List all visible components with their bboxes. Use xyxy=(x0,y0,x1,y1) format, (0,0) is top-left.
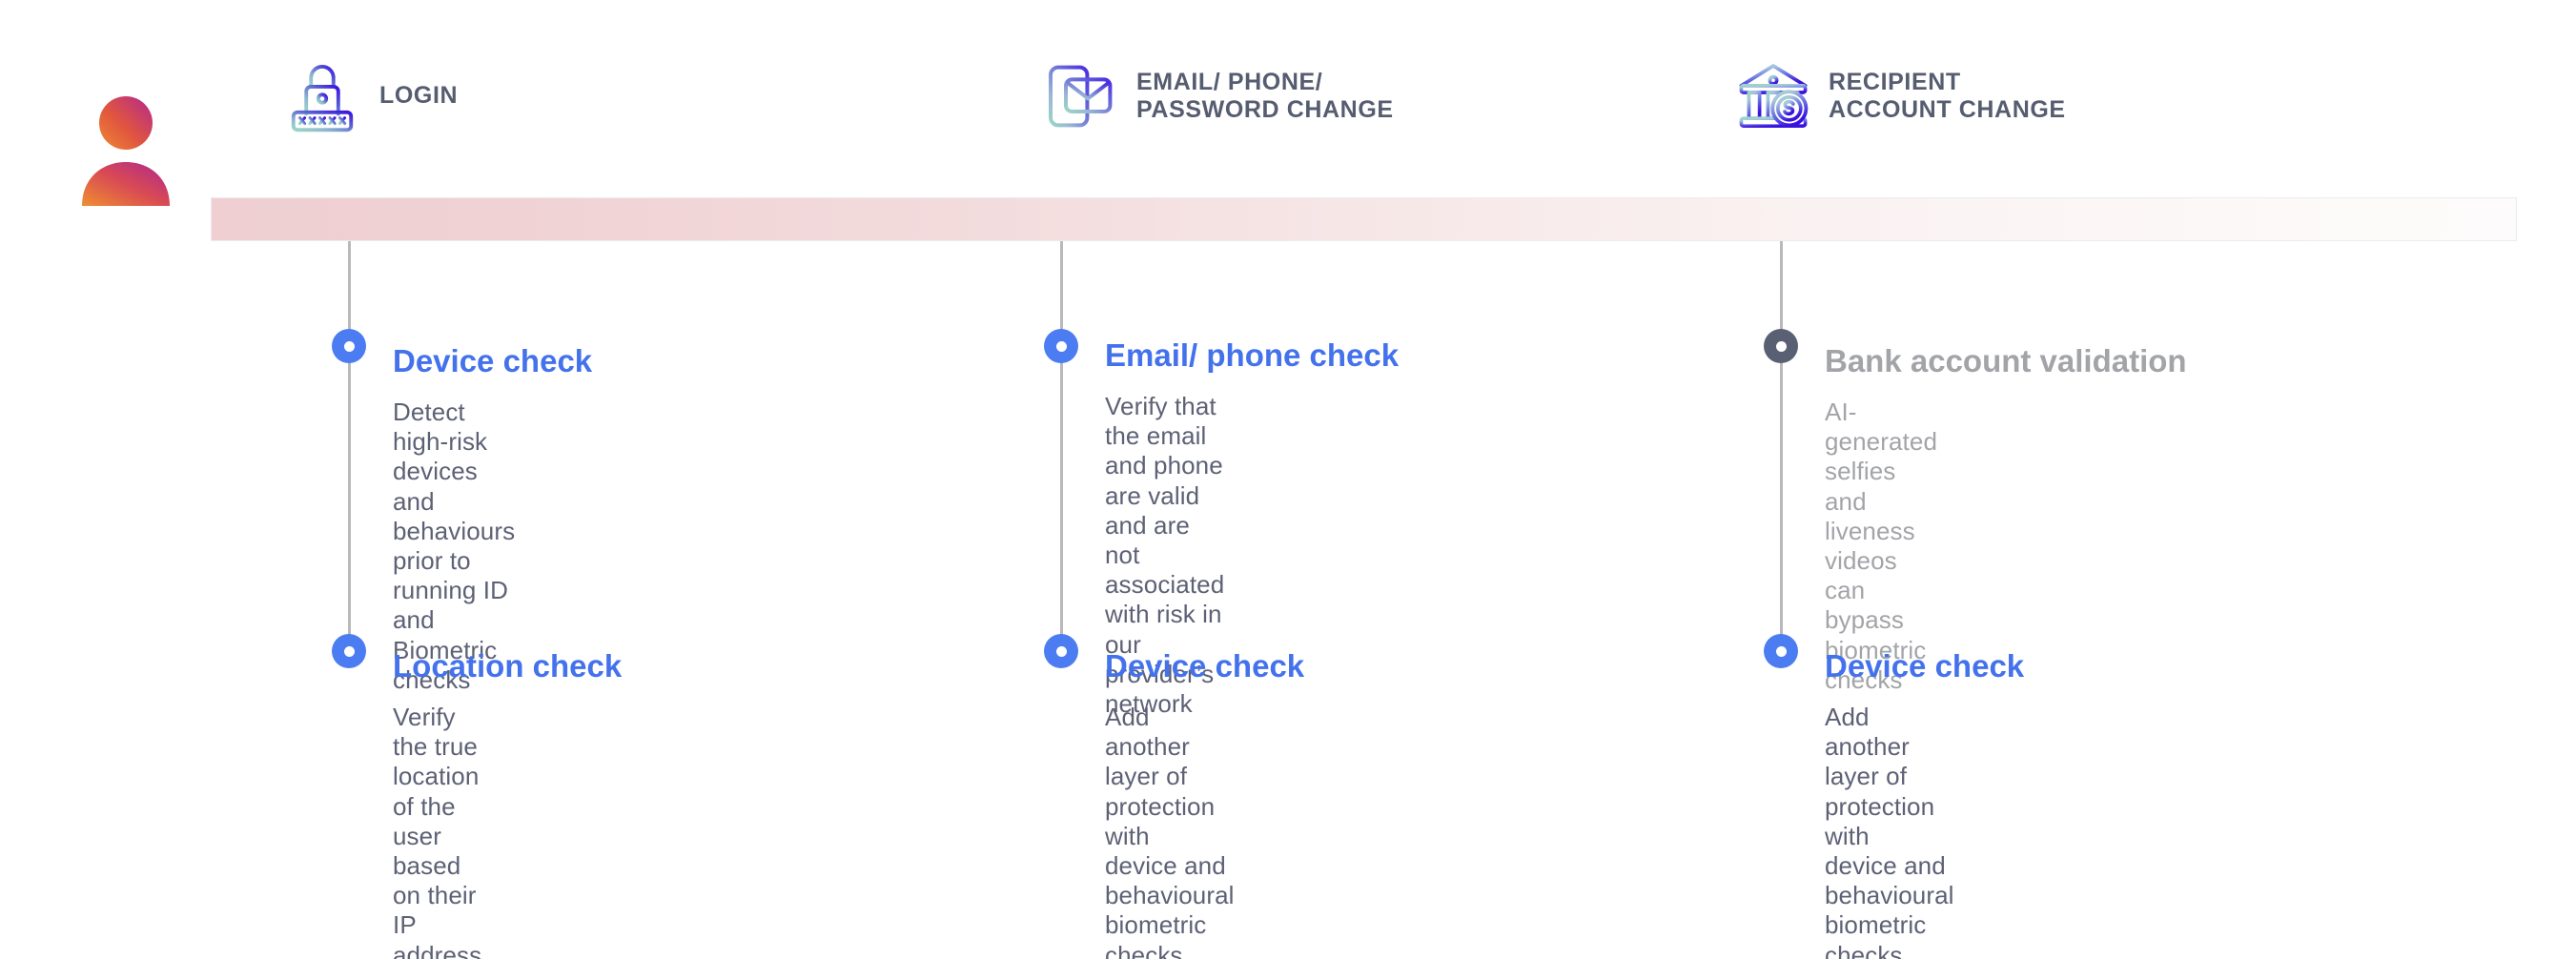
node-title: Location check xyxy=(393,649,622,684)
node-body-line: Add another layer of protection with xyxy=(1105,703,1235,851)
stage-label-recipient-account-change: RECIPIENT ACCOUNT CHANGE xyxy=(1829,69,2066,125)
node-body-line: and are not associated with risk in our xyxy=(1105,511,1224,660)
node-body-line: Detect high-risk devices and behaviours xyxy=(393,398,515,546)
bank-dollar-icon xyxy=(1735,58,1811,134)
timeline-dot-icon xyxy=(1044,329,1078,363)
node-body-line: Add another layer of protection with xyxy=(1825,703,1954,851)
node-body: Add another layer of protection with dev… xyxy=(1825,703,1954,959)
stage-header-recipient-account-change: RECIPIENT ACCOUNT CHANGE xyxy=(1735,59,2066,133)
node-body-line: Verify that the email and phone are vali… xyxy=(1105,392,1224,511)
timeline-rail xyxy=(348,241,351,651)
node-title: Device check xyxy=(1105,649,1304,684)
node-body: Verify the true location of the user bas… xyxy=(393,703,481,959)
timeline-dot-icon xyxy=(332,634,366,668)
node-body-line: device and behavioural biometric checks xyxy=(1105,851,1235,959)
user-avatar-icon xyxy=(69,92,183,206)
stage-header-login: LOGIN xyxy=(282,67,458,126)
timeline-dot-icon xyxy=(1044,634,1078,668)
node-title: Device check xyxy=(393,344,592,378)
journey-progress-banner xyxy=(211,197,2517,241)
lock-password-icon xyxy=(282,56,362,136)
stage-label-login: LOGIN xyxy=(379,82,458,110)
node-title: Device check xyxy=(1825,649,2024,684)
timeline-dot-icon xyxy=(1764,329,1798,363)
node-title: Bank account validation xyxy=(1825,344,2187,378)
node-body-line: on their IP address xyxy=(393,881,481,959)
timeline-rail xyxy=(1060,241,1063,651)
node-body-line: AI-generated selfies and liveness videos xyxy=(1825,398,1937,576)
stage-label-email-phone-password-change: EMAIL/ PHONE/ PASSWORD CHANGE xyxy=(1136,69,1394,125)
node-body: Add another layer of protection with dev… xyxy=(1105,703,1235,959)
node-title: Email/ phone check xyxy=(1105,338,1399,373)
phone-envelope-icon xyxy=(1043,58,1119,134)
node-body-line: device and behavioural biometric checks xyxy=(1825,851,1954,959)
timeline-dot-icon xyxy=(1764,634,1798,668)
timeline-dot-icon xyxy=(332,329,366,363)
node-body-line: Verify the true location of the user bas… xyxy=(393,703,481,881)
fraud-journey-diagram: LOGIN EMAIL/ PHONE/ PASSWORD CHANGE xyxy=(0,0,2576,959)
timeline-rail xyxy=(1780,241,1783,651)
stage-header-email-phone-password-change: EMAIL/ PHONE/ PASSWORD CHANGE xyxy=(1043,59,1394,133)
